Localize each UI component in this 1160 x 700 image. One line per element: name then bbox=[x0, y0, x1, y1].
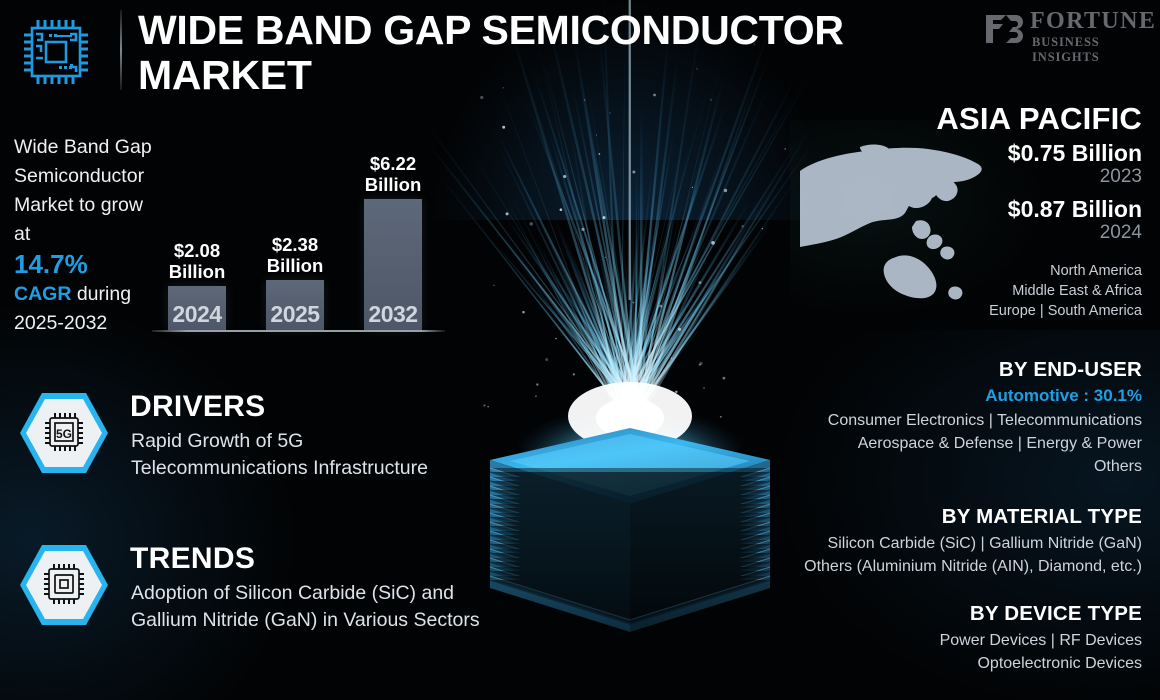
drivers-title: DRIVERS bbox=[130, 390, 265, 424]
table-row: $2.38Billion 2025 bbox=[266, 280, 324, 330]
table-row: $6.22Billion 2032 bbox=[364, 199, 422, 330]
header-divider bbox=[120, 10, 122, 90]
segment-list: Consumer Electronics | Telecommunication… bbox=[742, 409, 1142, 478]
segment-by-device-type: BY DEVICE TYPE Power Devices | RF Device… bbox=[742, 602, 1142, 675]
region-value-1: $0.75 Billion bbox=[1008, 140, 1142, 167]
table-row: $2.08Billion 2024 bbox=[168, 286, 226, 330]
cagr-blurb: Wide Band Gap Semiconductor Market to gr… bbox=[14, 133, 154, 338]
segment-list: Silicon Carbide (SiC) | Gallium Nitride … bbox=[742, 532, 1142, 578]
cagr-line-2: Semiconductor bbox=[14, 165, 144, 187]
brand-name: FORTUNE bbox=[1030, 8, 1156, 35]
segment-title: BY DEVICE TYPE bbox=[742, 602, 1142, 626]
segment-by-material-type: BY MATERIAL TYPE Silicon Carbide (SiC) |… bbox=[742, 505, 1142, 578]
region-year-2: 2024 bbox=[1100, 222, 1142, 244]
cagr-percent: 14.7% bbox=[14, 249, 154, 280]
bar-value-label: $2.08Billion bbox=[169, 240, 226, 282]
trends-block: TRENDS Adoption of Silicon Carbide (SiC)… bbox=[18, 542, 518, 642]
segment-title: BY MATERIAL TYPE bbox=[742, 505, 1142, 529]
cagr-period: 2025-2032 bbox=[14, 312, 107, 334]
list-item: Power Devices | RF Devices bbox=[742, 629, 1142, 652]
region-year-1: 2023 bbox=[1100, 166, 1142, 188]
bar-year-label: 2032 bbox=[368, 301, 417, 328]
brand-logo: FORTUNE BUSINESS INSIGHTS bbox=[984, 8, 1152, 52]
segment-by-end-user: BY END-USER Automotive : 30.1% Consumer … bbox=[742, 358, 1142, 478]
segment-title: BY END-USER bbox=[742, 358, 1142, 382]
cagr-label: CAGR bbox=[14, 283, 71, 305]
other-regions-list: North America Middle East & Africa Europ… bbox=[812, 261, 1142, 321]
svg-text:5G: 5G bbox=[56, 427, 72, 441]
header: WIDE BAND GAP SEMICONDUCTOR MARKET FORTU… bbox=[0, 0, 1160, 100]
region-value-2: $0.87 Billion bbox=[1008, 196, 1142, 223]
list-item: Europe | South America bbox=[812, 301, 1142, 321]
list-item: Silicon Carbide (SiC) | Gallium Nitride … bbox=[742, 532, 1142, 555]
list-item: Consumer Electronics | Telecommunication… bbox=[742, 409, 1142, 432]
bar-value-label: $2.38Billion bbox=[267, 234, 324, 276]
bar-year-label: 2024 bbox=[172, 301, 221, 328]
cagr-line-3: Market to bbox=[14, 194, 95, 216]
list-item: North America bbox=[812, 261, 1142, 281]
list-item: Optoelectronic Devices bbox=[742, 652, 1142, 675]
bar-year-label: 2025 bbox=[270, 301, 319, 328]
chip-5g-icon: 5G bbox=[18, 390, 110, 476]
processor-chip-icon bbox=[18, 542, 110, 628]
cagr-during: during bbox=[71, 283, 131, 305]
region-heading: ASIA PACIFIC bbox=[936, 101, 1142, 137]
trends-description: Adoption of Silicon Carbide (SiC) andGal… bbox=[131, 580, 531, 634]
infographic-canvas: WIDE BAND GAP SEMICONDUCTOR MARKET FORTU… bbox=[0, 0, 1160, 700]
list-item: Others bbox=[742, 455, 1142, 478]
page-title: WIDE BAND GAP SEMICONDUCTOR MARKET bbox=[138, 8, 938, 98]
trends-title: TRENDS bbox=[130, 542, 255, 576]
microchip-icon bbox=[14, 12, 98, 92]
drivers-block: 5G DRIVERS Rapid Growth of 5GTelecommuni… bbox=[18, 390, 488, 490]
list-item: Middle East & Africa bbox=[812, 281, 1142, 301]
bar-value-label: $6.22Billion bbox=[365, 153, 422, 195]
cagr-line-1: Wide Band Gap bbox=[14, 136, 152, 158]
list-item: Aerospace & Defense | Energy & Power bbox=[742, 432, 1142, 455]
drivers-description: Rapid Growth of 5GTelecommunications Inf… bbox=[131, 428, 531, 482]
list-item: Others (Aluminium Nitride (AIN), Diamond… bbox=[742, 555, 1142, 578]
fb-monogram-icon bbox=[984, 11, 1026, 47]
segment-list: Power Devices | RF Devices Optoelectroni… bbox=[742, 629, 1142, 675]
segment-highlight: Automotive : 30.1% bbox=[742, 386, 1142, 406]
brand-tagline: BUSINESS INSIGHTS bbox=[1032, 35, 1152, 65]
chart-baseline-axis bbox=[152, 330, 445, 332]
market-size-bar-chart: $2.08Billion 2024 $2.38Billion 2025 $6.2… bbox=[152, 120, 447, 332]
